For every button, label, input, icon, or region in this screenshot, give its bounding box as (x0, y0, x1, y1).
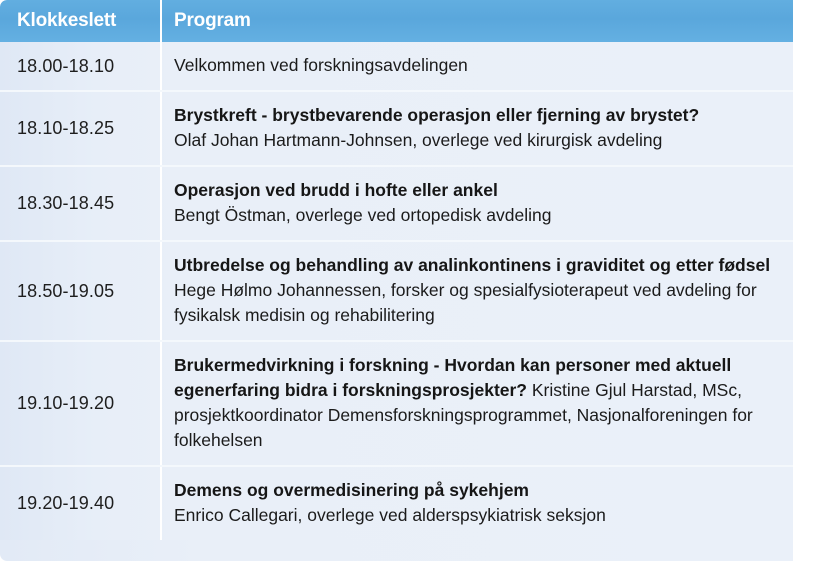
table-row: 18.10-18.25Brystkreft - brystbevarende o… (0, 92, 793, 167)
row-program-cell: Brystkreft - brystbevarende operasjon el… (160, 92, 793, 165)
row-time-cell: 18.00-18.10 (0, 42, 160, 90)
row-time-cell: 18.30-18.45 (0, 167, 160, 240)
row-time-value: 18.00-18.10 (17, 56, 114, 77)
column-header-program: Program (160, 0, 793, 42)
column-header-klokkeslett: Klokkeslett (0, 0, 160, 42)
row-time-value: 18.50-19.05 (17, 281, 114, 302)
table-row: 18.30-18.45Operasjon ved brudd i hofte e… (0, 167, 793, 242)
row-time-value: 18.30-18.45 (17, 193, 114, 214)
row-program-cell: Brukermedvirkning i forskning - Hvordan … (160, 342, 793, 465)
row-program-description: Velkommen ved forskningsavdelingen (174, 53, 779, 78)
row-program-title: Brystkreft - brystbevarende operasjon el… (174, 103, 779, 128)
row-program-cell: Operasjon ved brudd i hofte eller ankelB… (160, 167, 793, 240)
table-row: 18.50-19.05Utbredelse og behandling av a… (0, 242, 793, 342)
row-program-cell: Utbredelse og behandling av analinkontin… (160, 242, 793, 340)
column-header-klokkeslett-label: Klokkeslett (17, 10, 116, 32)
row-time-cell: 19.20-19.40 (0, 467, 160, 540)
table-row: 19.20-19.40Demens og overmedisinering på… (0, 467, 793, 540)
row-time-cell: 19.10-19.20 (0, 342, 160, 465)
column-header-program-label: Program (174, 10, 251, 32)
row-program-title: Demens og overmedisinering på sykehjem (174, 478, 779, 503)
table-bottom-filler (0, 540, 793, 561)
row-program-title: Operasjon ved brudd i hofte eller ankel (174, 178, 779, 203)
row-time-cell: 18.50-19.05 (0, 242, 160, 340)
table-row: 18.00-18.10Velkommen ved forskningsavdel… (0, 42, 793, 92)
row-program-description: Hege Hølmo Johannessen, forsker og spesi… (174, 278, 779, 328)
table-header-row: Klokkeslett Program (0, 0, 793, 42)
row-program-description: Bengt Östman, overlege ved ortopedisk av… (174, 203, 779, 228)
program-schedule-table: Klokkeslett Program 18.00-18.10Velkommen… (0, 0, 793, 561)
row-program-cell: Demens og overmedisinering på sykehjemEn… (160, 467, 793, 540)
row-program-description: Enrico Callegari, overlege ved alderspsy… (174, 503, 779, 528)
row-program-cell: Velkommen ved forskningsavdelingen (160, 42, 793, 90)
row-program-description: Olaf Johan Hartmann-Johnsen, overlege ve… (174, 128, 779, 153)
row-time-value: 18.10-18.25 (17, 118, 114, 139)
row-program-title: Utbredelse og behandling av analinkontin… (174, 253, 779, 278)
row-time-cell: 18.10-18.25 (0, 92, 160, 165)
table-row: 19.10-19.20Brukermedvirkning i forskning… (0, 342, 793, 467)
row-time-value: 19.10-19.20 (17, 393, 114, 414)
row-time-value: 19.20-19.40 (17, 493, 114, 514)
table-body: 18.00-18.10Velkommen ved forskningsavdel… (0, 42, 793, 540)
